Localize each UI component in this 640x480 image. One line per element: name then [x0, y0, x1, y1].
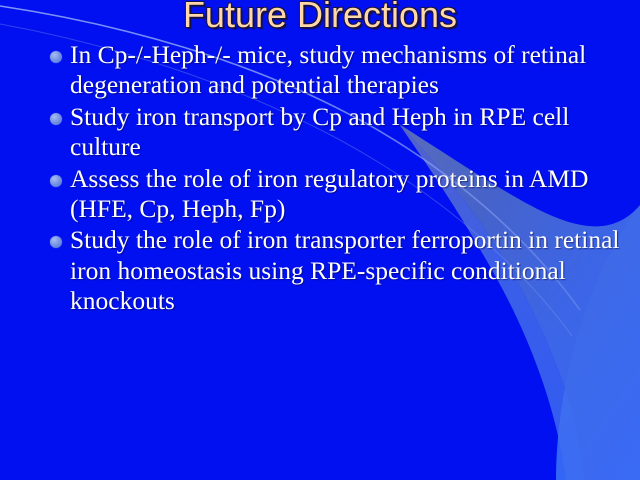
list-item-label: Assess the role of iron regulatory prote…	[70, 164, 630, 225]
list-item-label: In Cp-/-Heph-/- mice, study mechanisms o…	[70, 40, 630, 101]
list-item: Study the role of iron transporter ferro…	[44, 225, 630, 316]
list-item-label: Study iron transport by Cp and Heph in R…	[70, 102, 630, 163]
presentation-slide: Future Directions In Cp-/-Heph-/- mice, …	[0, 0, 640, 480]
list-item-label: Study the role of iron transporter ferro…	[70, 225, 630, 316]
slide-content: Future Directions In Cp-/-Heph-/- mice, …	[0, 0, 640, 480]
bullet-point-icon	[50, 51, 62, 63]
list-item: Assess the role of iron regulatory prote…	[44, 164, 630, 225]
bullet-point-icon	[50, 175, 62, 187]
list-item: Study iron transport by Cp and Heph in R…	[44, 102, 630, 163]
list-item: In Cp-/-Heph-/- mice, study mechanisms o…	[44, 40, 630, 101]
bullet-point-icon	[50, 236, 62, 248]
page-title: Future Directions	[0, 0, 640, 34]
bullet-list: In Cp-/-Heph-/- mice, study mechanisms o…	[44, 40, 630, 318]
bullet-point-icon	[50, 113, 62, 125]
